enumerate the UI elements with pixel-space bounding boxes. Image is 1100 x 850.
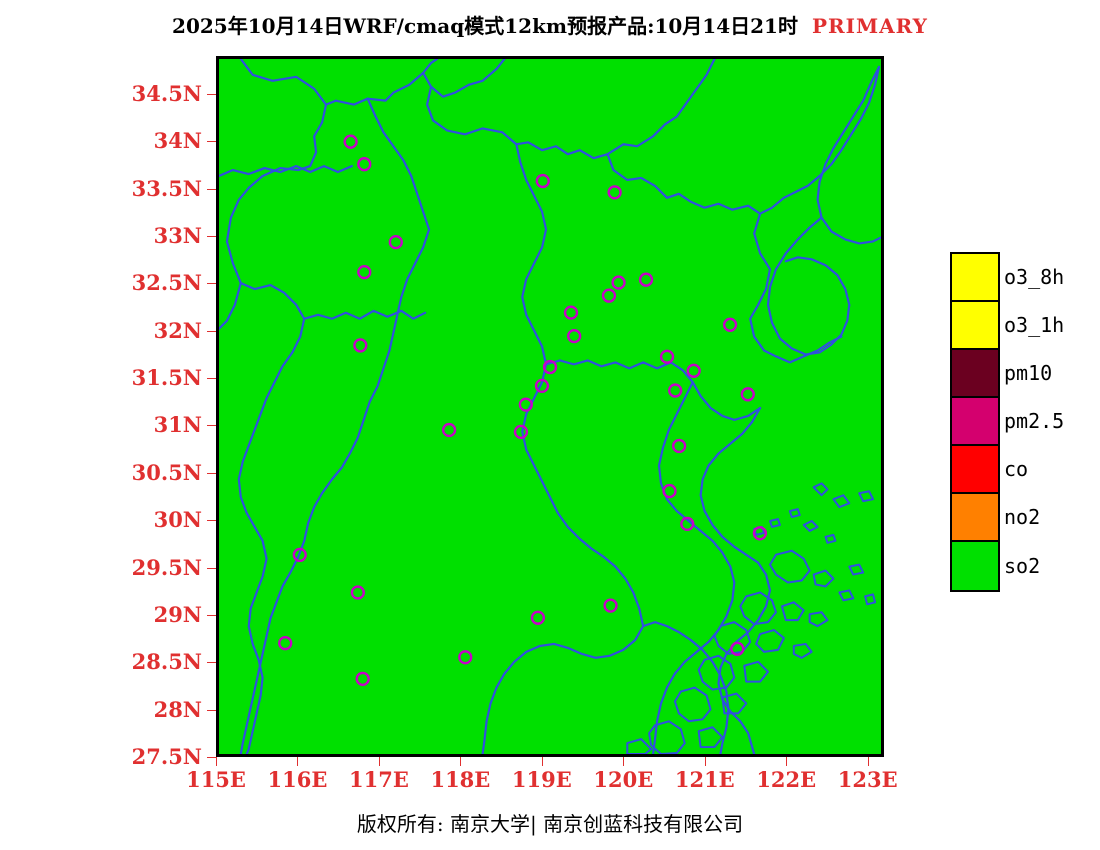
legend-label-pm10: pm10	[1004, 361, 1052, 385]
y-axis-label-27.5N: 27.5N	[47, 744, 202, 769]
legend-label-no2: no2	[1004, 505, 1040, 529]
legend-swatch-co[interactable]: co	[952, 446, 998, 494]
y-axis-label-29N: 29N	[47, 602, 202, 627]
y-tick-30.5N	[207, 473, 216, 474]
map-canvas	[219, 59, 881, 754]
y-axis-label-30N: 30N	[47, 507, 202, 532]
legend-swatch-pm10[interactable]: pm10	[952, 350, 998, 398]
legend-swatch-o3_1h[interactable]: o3_1h	[952, 302, 998, 350]
x-tick-115E	[216, 757, 217, 766]
legend-label-o3_1h: o3_1h	[1004, 313, 1064, 337]
x-tick-120E	[623, 757, 624, 766]
legend-label-so2: so2	[1004, 554, 1040, 578]
legend-swatch-o3_8h[interactable]: o3_8h	[952, 254, 998, 302]
y-tick-29N	[207, 615, 216, 616]
y-axis-label-30.5N: 30.5N	[47, 460, 202, 485]
legend-swatch-pm2.5[interactable]: pm2.5	[952, 398, 998, 446]
page-title: 2025年10月14日WRF/cmaq模式12km预报产品:10月14日21时P…	[0, 10, 1100, 39]
station-marker[interactable]	[661, 351, 673, 363]
footer-copyright: 版权所有: 南京大学| 南京创蓝科技有限公司	[0, 808, 1100, 837]
x-axis-label-123E: 123E	[823, 767, 913, 792]
y-tick-28N	[207, 710, 216, 711]
x-tick-118E	[460, 757, 461, 766]
station-marker[interactable]	[664, 485, 676, 497]
x-axis-label-117E: 117E	[334, 767, 424, 792]
station-marker[interactable]	[669, 385, 681, 397]
station-marker[interactable]	[673, 440, 685, 452]
station-marker[interactable]	[742, 388, 754, 400]
y-tick-31.5N	[207, 378, 216, 379]
station-marker[interactable]	[568, 330, 580, 342]
legend-swatch-so2[interactable]: so2	[952, 542, 998, 590]
y-axis-label-31.5N: 31.5N	[47, 365, 202, 390]
x-axis-label-118E: 118E	[415, 767, 505, 792]
title-primary-label: PRIMARY	[812, 14, 928, 38]
y-axis-label-32.5N: 32.5N	[47, 270, 202, 295]
y-axis-label-28N: 28N	[47, 697, 202, 722]
y-tick-33.5N	[207, 189, 216, 190]
station-marker[interactable]	[279, 637, 291, 649]
y-axis-label-34.5N: 34.5N	[47, 81, 202, 106]
y-tick-33N	[207, 236, 216, 237]
y-tick-29.5N	[207, 568, 216, 569]
station-marker[interactable]	[515, 426, 527, 438]
station-marker[interactable]	[640, 274, 652, 286]
station-marker[interactable]	[352, 587, 364, 599]
y-tick-27.5N	[207, 757, 216, 758]
x-axis-label-119E: 119E	[497, 767, 587, 792]
map-plot-frame[interactable]	[216, 56, 884, 757]
y-tick-31N	[207, 425, 216, 426]
station-marker[interactable]	[603, 290, 615, 302]
x-axis-label-122E: 122E	[741, 767, 831, 792]
y-axis-label-28.5N: 28.5N	[47, 649, 202, 674]
station-marker[interactable]	[459, 651, 471, 663]
y-axis-label-34N: 34N	[47, 128, 202, 153]
legend-label-o3_8h: o3_8h	[1004, 265, 1064, 289]
station-marker[interactable]	[724, 319, 736, 331]
x-axis-label-121E: 121E	[660, 767, 750, 792]
station-marker[interactable]	[688, 365, 700, 377]
station-marker[interactable]	[532, 612, 544, 624]
station-marker[interactable]	[358, 158, 370, 170]
station-marker[interactable]	[345, 136, 357, 148]
y-tick-28.5N	[207, 662, 216, 663]
y-tick-34.5N	[207, 94, 216, 95]
y-axis-label-32N: 32N	[47, 318, 202, 343]
x-tick-117E	[379, 757, 380, 766]
y-axis-label-33.5N: 33.5N	[47, 176, 202, 201]
legend-swatch-no2[interactable]: no2	[952, 494, 998, 542]
station-marker[interactable]	[565, 307, 577, 319]
title-main-text: 2025年10月14日WRF/cmaq模式12km预报产品:10月14日21时	[172, 14, 798, 38]
station-marker[interactable]	[609, 186, 621, 198]
station-marker[interactable]	[358, 266, 370, 278]
province-boundaries	[219, 59, 879, 754]
y-tick-30N	[207, 520, 216, 521]
x-tick-122E	[786, 757, 787, 766]
station-marker[interactable]	[537, 175, 549, 187]
offshore-islands	[627, 483, 875, 754]
y-axis-label-33N: 33N	[47, 223, 202, 248]
station-marker[interactable]	[443, 424, 455, 436]
x-tick-121E	[705, 757, 706, 766]
x-tick-123E	[868, 757, 869, 766]
station-marker[interactable]	[354, 339, 366, 351]
y-tick-32.5N	[207, 283, 216, 284]
y-tick-32N	[207, 331, 216, 332]
legend[interactable]: o3_8ho3_1hpm10pm2.5cono2so2	[950, 252, 1000, 592]
y-tick-34N	[207, 141, 216, 142]
station-marker[interactable]	[613, 277, 625, 289]
x-tick-116E	[297, 757, 298, 766]
x-axis-label-116E: 116E	[252, 767, 342, 792]
x-tick-119E	[542, 757, 543, 766]
y-axis-label-31N: 31N	[47, 412, 202, 437]
station-markers[interactable]	[279, 136, 766, 685]
station-marker[interactable]	[390, 236, 402, 248]
legend-label-pm2.5: pm2.5	[1004, 409, 1064, 433]
x-axis-label-120E: 120E	[578, 767, 668, 792]
station-marker[interactable]	[605, 600, 617, 612]
y-axis-label-29.5N: 29.5N	[47, 555, 202, 580]
station-marker[interactable]	[357, 673, 369, 685]
x-axis-label-115E: 115E	[171, 767, 261, 792]
legend-label-co: co	[1004, 457, 1028, 481]
